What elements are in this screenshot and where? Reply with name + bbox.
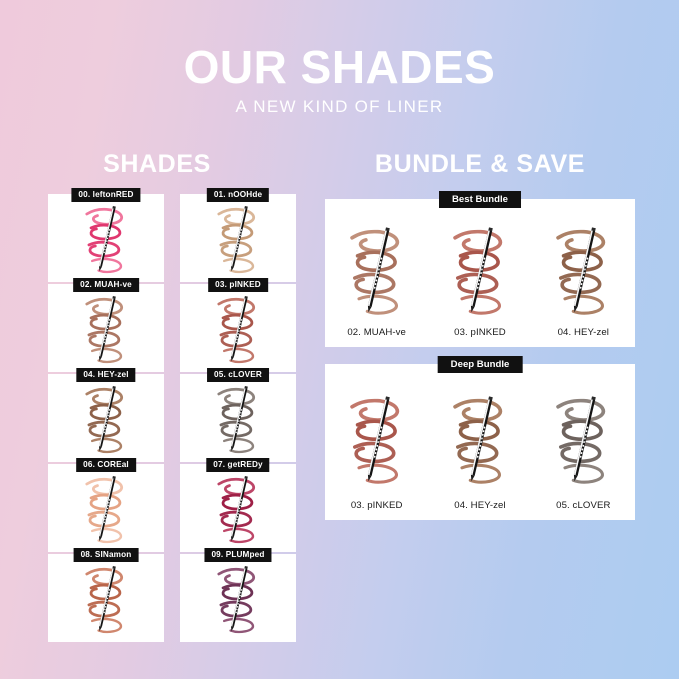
bundle-item[interactable]: 03. pINKED <box>325 376 428 520</box>
bundle-item[interactable]: 02. MUAH-ve <box>325 211 428 347</box>
shade-swatch <box>180 374 296 462</box>
bundle-panel-deep[interactable]: Deep Bundle 03. pINKED04. HEY-zel05. cLO… <box>325 364 635 520</box>
bundle-item-label: 04. HEY-zel <box>454 500 505 520</box>
shade-swatch-art <box>76 378 136 458</box>
page-subtitle: A NEW KIND OF LINER <box>0 97 679 117</box>
shade-tile[interactable]: 01. nOOHde <box>180 194 296 282</box>
bundle-item[interactable]: 03. pINKED <box>428 211 531 347</box>
bundle-items-best: 02. MUAH-ve03. pINKED04. HEY-zel <box>325 211 635 347</box>
shade-tile[interactable]: 02. MUAH-ve <box>48 284 164 372</box>
shade-swatch-art <box>443 217 517 321</box>
bundle-item[interactable]: 04. HEY-zel <box>532 211 635 347</box>
shade-swatch-art <box>340 217 414 321</box>
shade-tile[interactable]: 05. cLOVER <box>180 374 296 462</box>
shade-tile[interactable]: 07. getREDy <box>180 464 296 552</box>
shade-label: 07. getREDy <box>206 458 269 472</box>
bundle-tag-deep: Deep Bundle <box>438 356 523 373</box>
bundle-swatch <box>443 376 517 500</box>
shade-tile[interactable]: 03. pINKED <box>180 284 296 372</box>
shade-swatch-art <box>208 288 268 368</box>
shade-swatch <box>48 464 164 552</box>
shade-swatch-art <box>208 378 268 458</box>
shade-swatch-art <box>76 468 136 548</box>
shade-swatch-art <box>546 386 620 490</box>
shade-label: 02. MUAH-ve <box>73 278 139 292</box>
page-title: OUR SHADES <box>0 44 679 90</box>
shade-label: 06. COREal <box>76 458 136 472</box>
bundle-section-heading: BUNDLE & SAVE <box>330 150 630 179</box>
shade-tile[interactable]: 04. HEY-zel <box>48 374 164 462</box>
shades-grid: 00. leftonRED01. nOOHde02. MUAH-ve03. pI… <box>48 194 296 642</box>
bundle-item-label: 05. cLOVER <box>556 500 610 520</box>
bundle-items-deep: 03. pINKED04. HEY-zel05. cLOVER <box>325 376 635 520</box>
shade-tile[interactable]: 00. leftonRED <box>48 194 164 282</box>
shades-section-heading: SHADES <box>42 150 272 179</box>
shade-tile[interactable]: 06. COREal <box>48 464 164 552</box>
shade-label: 03. pINKED <box>208 278 268 292</box>
bundle-swatch <box>443 211 517 327</box>
shade-swatch-art <box>208 198 268 278</box>
bundle-item-label: 02. MUAH-ve <box>347 327 406 347</box>
bundle-swatch <box>340 211 414 327</box>
bundle-item-label: 04. HEY-zel <box>558 327 609 347</box>
shade-swatch <box>48 284 164 372</box>
page-header: OUR SHADES A NEW KIND OF LINER <box>0 44 679 117</box>
shade-swatch <box>48 554 164 642</box>
shade-tile[interactable]: 08. SINamon <box>48 554 164 642</box>
shade-label: 01. nOOHde <box>207 188 269 202</box>
shade-swatch-art <box>76 198 136 278</box>
bundle-item-label: 03. pINKED <box>454 327 506 347</box>
shade-label: 08. SINamon <box>74 548 139 562</box>
shade-label: 00. leftonRED <box>71 188 140 202</box>
bundle-swatch <box>546 211 620 327</box>
shade-swatch <box>180 194 296 282</box>
shade-swatch-art <box>340 386 414 490</box>
bundle-swatch <box>340 376 414 500</box>
bundle-item-label: 03. pINKED <box>351 500 403 520</box>
bundle-tag-best: Best Bundle <box>439 191 521 208</box>
shade-label: 09. PLUMped <box>204 548 271 562</box>
shade-swatch-art <box>76 558 136 638</box>
shade-swatch <box>48 374 164 462</box>
shade-swatch <box>48 194 164 282</box>
shade-swatch-art <box>208 558 268 638</box>
shade-swatch-art <box>443 386 517 490</box>
shade-swatch-art <box>76 288 136 368</box>
shade-label: 04. HEY-zel <box>76 368 135 382</box>
shade-swatch <box>180 284 296 372</box>
bundle-panel-best[interactable]: Best Bundle 02. MUAH-ve03. pINKED04. HEY… <box>325 199 635 347</box>
bundle-item[interactable]: 05. cLOVER <box>532 376 635 520</box>
shade-swatch-art <box>208 468 268 548</box>
shade-label: 05. cLOVER <box>207 368 269 382</box>
bundle-swatch <box>546 376 620 500</box>
bundle-item[interactable]: 04. HEY-zel <box>428 376 531 520</box>
shade-tile[interactable]: 09. PLUMped <box>180 554 296 642</box>
shade-swatch <box>180 554 296 642</box>
shade-swatch-art <box>546 217 620 321</box>
shade-swatch <box>180 464 296 552</box>
